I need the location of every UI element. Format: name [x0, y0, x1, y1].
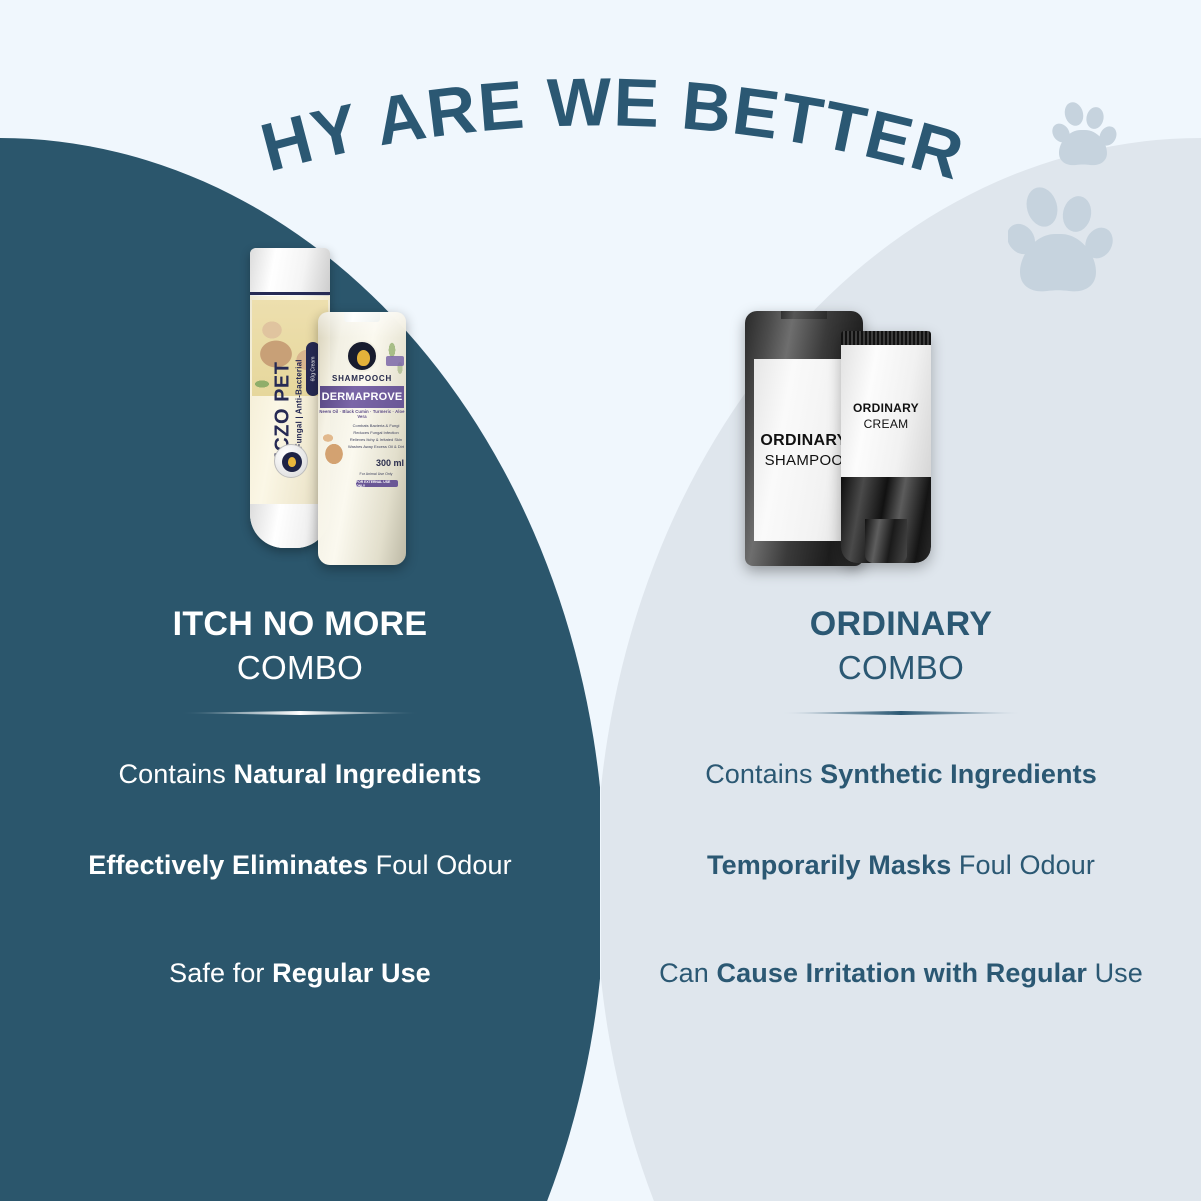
page-title-text: WHY ARE WE BETTER? — [0, 0, 972, 195]
right-feature-2-suffix: Foul Odour — [951, 850, 1095, 880]
left-feature-3-bold: Regular Use — [272, 958, 431, 988]
right-heading-bold: ORDINARY — [601, 606, 1201, 643]
ordinary-cream-line1: ORDINARY — [841, 401, 931, 415]
ordinary-cream-tube: ORDINARY CREAM — [841, 331, 931, 563]
right-feature-2-bold: Temporarily Masks — [707, 850, 951, 880]
ordinary-cream-label: ORDINARY CREAM — [841, 345, 931, 477]
ordinary-shampoo-label: ORDINARY SHAMPOO — [754, 359, 854, 541]
dermaprove-claims: Combats Bacteria & FungiReduces Fungal I… — [348, 422, 404, 450]
left-feature-1: Contains Natural Ingredients — [0, 757, 600, 793]
right-feature-1: Contains Synthetic Ingredients — [601, 757, 1201, 793]
right-product-images: ORDINARY SHAMPOO ORDINARY CREAM — [745, 305, 960, 570]
right-divider — [781, 711, 1021, 715]
right-feature-3-prefix: Can — [659, 958, 716, 988]
left-column-content: ITCH NO MORE COMBO Contains Natural Ingr… — [0, 606, 600, 992]
bottle-corner-sticker — [386, 356, 404, 366]
right-feature-3: Can Cause Irritation with Regular Use — [601, 956, 1201, 992]
svg-text:WHY ARE WE BETTER?: WHY ARE WE BETTER? — [0, 0, 972, 195]
right-column-content: ORDINARY COMBO Contains Synthetic Ingred… — [601, 606, 1201, 992]
left-feature-2: Effectively Eliminates Foul Odour — [0, 848, 600, 884]
right-feature-1-bold: Synthetic Ingredients — [820, 759, 1097, 789]
paw-print-icon — [1008, 185, 1120, 301]
ordinary-tube-crimp — [841, 331, 931, 345]
left-feature-3: Safe for Regular Use — [0, 956, 600, 992]
left-feature-1-bold: Natural Ingredients — [234, 759, 482, 789]
brand-seal-icon — [274, 444, 308, 478]
dermaprove-animal-use: For Animal Use Only — [348, 472, 404, 476]
shampooch-category-label: SHAMPOOCH — [318, 374, 406, 383]
fur-ball-story-logo-icon — [346, 340, 378, 372]
dermaprove-name-band: DERMAPROVE — [320, 386, 404, 408]
left-feature-2-bold: Effectively Eliminates — [88, 850, 368, 880]
left-feature-3-prefix: Safe for — [169, 958, 272, 988]
tube-cap-line — [250, 292, 330, 295]
left-divider — [180, 711, 420, 715]
right-heading-light: COMBO — [601, 647, 1201, 688]
tube-cap — [250, 248, 330, 296]
dermaprove-external-use-text: FOR EXTERNAL USE ONLY — [356, 480, 398, 488]
left-heading-light: COMBO — [0, 647, 600, 688]
ordinary-bottle-cap — [781, 311, 827, 319]
left-feature-1-prefix: Contains — [119, 759, 234, 789]
dermaprove-actives: Neem Oil · Black Cumin · Turmeric · Aloe… — [318, 409, 406, 419]
dermaprove-volume: 300 ml — [348, 458, 404, 468]
bottle-dog-artwork — [320, 424, 350, 486]
right-feature-2: Temporarily Masks Foul Odour — [601, 848, 1201, 884]
ordinary-shampoo-line1: ORDINARY — [760, 432, 847, 450]
ordinary-cream-line2: CREAM — [841, 417, 931, 431]
right-feature-1-prefix: Contains — [705, 759, 820, 789]
eczo-pet-size-text: 60g Cream — [310, 357, 316, 382]
page-title: WHY ARE WE BETTER? — [0, 56, 1201, 186]
left-feature-2-suffix: Foul Odour — [368, 850, 512, 880]
right-feature-3-bold: Cause Irritation with Regular — [717, 958, 1087, 988]
left-heading-bold: ITCH NO MORE — [0, 606, 600, 643]
dermaprove-name: DERMAPROVE — [322, 391, 403, 403]
ordinary-shampoo-line2: SHAMPOO — [765, 452, 844, 469]
left-product-images: ECZO PET Anti-Fungal | Anti-Bacterial 60… — [240, 248, 450, 568]
bottle-shoulder-highlight — [318, 312, 406, 338]
dermaprove-shampoo-bottle: SHAMPOOCH DERMAPROVE Neem Oil · Black Cu… — [318, 312, 406, 565]
infographic-stage: WHY ARE WE BETTER? ECZO PET Anti-Fungal … — [0, 0, 1201, 1201]
dermaprove-external-use-badge: FOR EXTERNAL USE ONLY — [356, 480, 398, 487]
ordinary-tube-cap — [841, 477, 931, 563]
right-feature-3-suffix: Use — [1087, 958, 1143, 988]
